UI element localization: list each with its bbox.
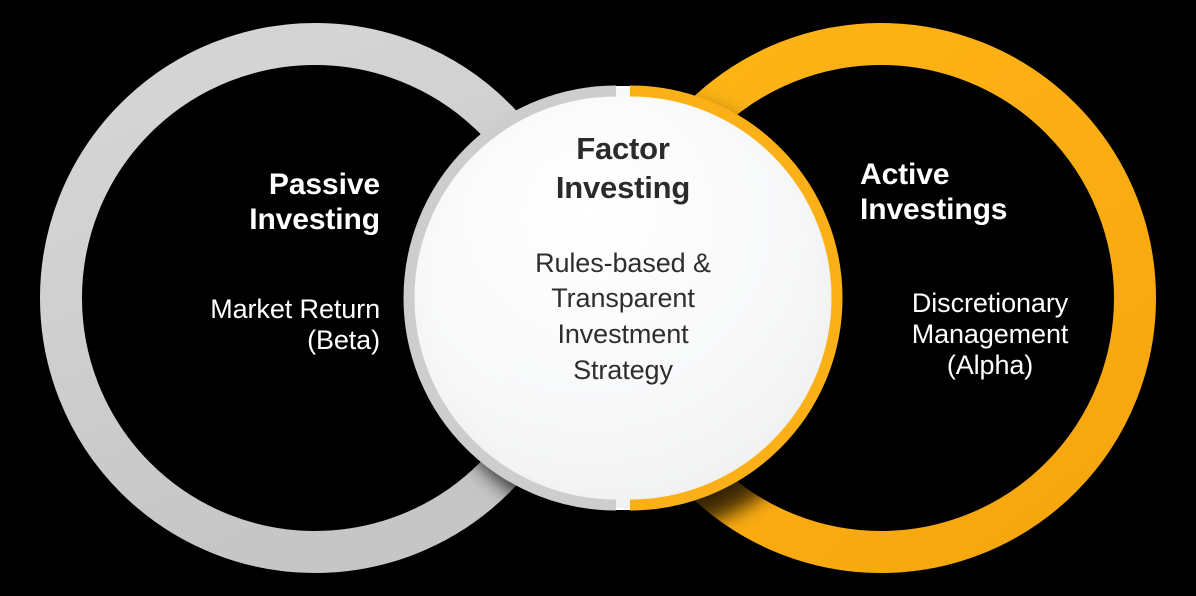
- active-investings-label: Active Investings Discretionary Manageme…: [860, 158, 1120, 382]
- active-investings-subtext: Discretionary Management (Alpha): [865, 288, 1115, 382]
- passive-investing-label: Passive Investing Market Return (Beta): [80, 168, 380, 356]
- passive-investing-heading: Passive Investing: [80, 168, 380, 238]
- diagram-canvas: Passive Investing Market Return (Beta) F…: [0, 0, 1196, 596]
- active-investings-heading: Active Investings: [860, 158, 1120, 228]
- passive-investing-subtext: Market Return (Beta): [80, 294, 380, 357]
